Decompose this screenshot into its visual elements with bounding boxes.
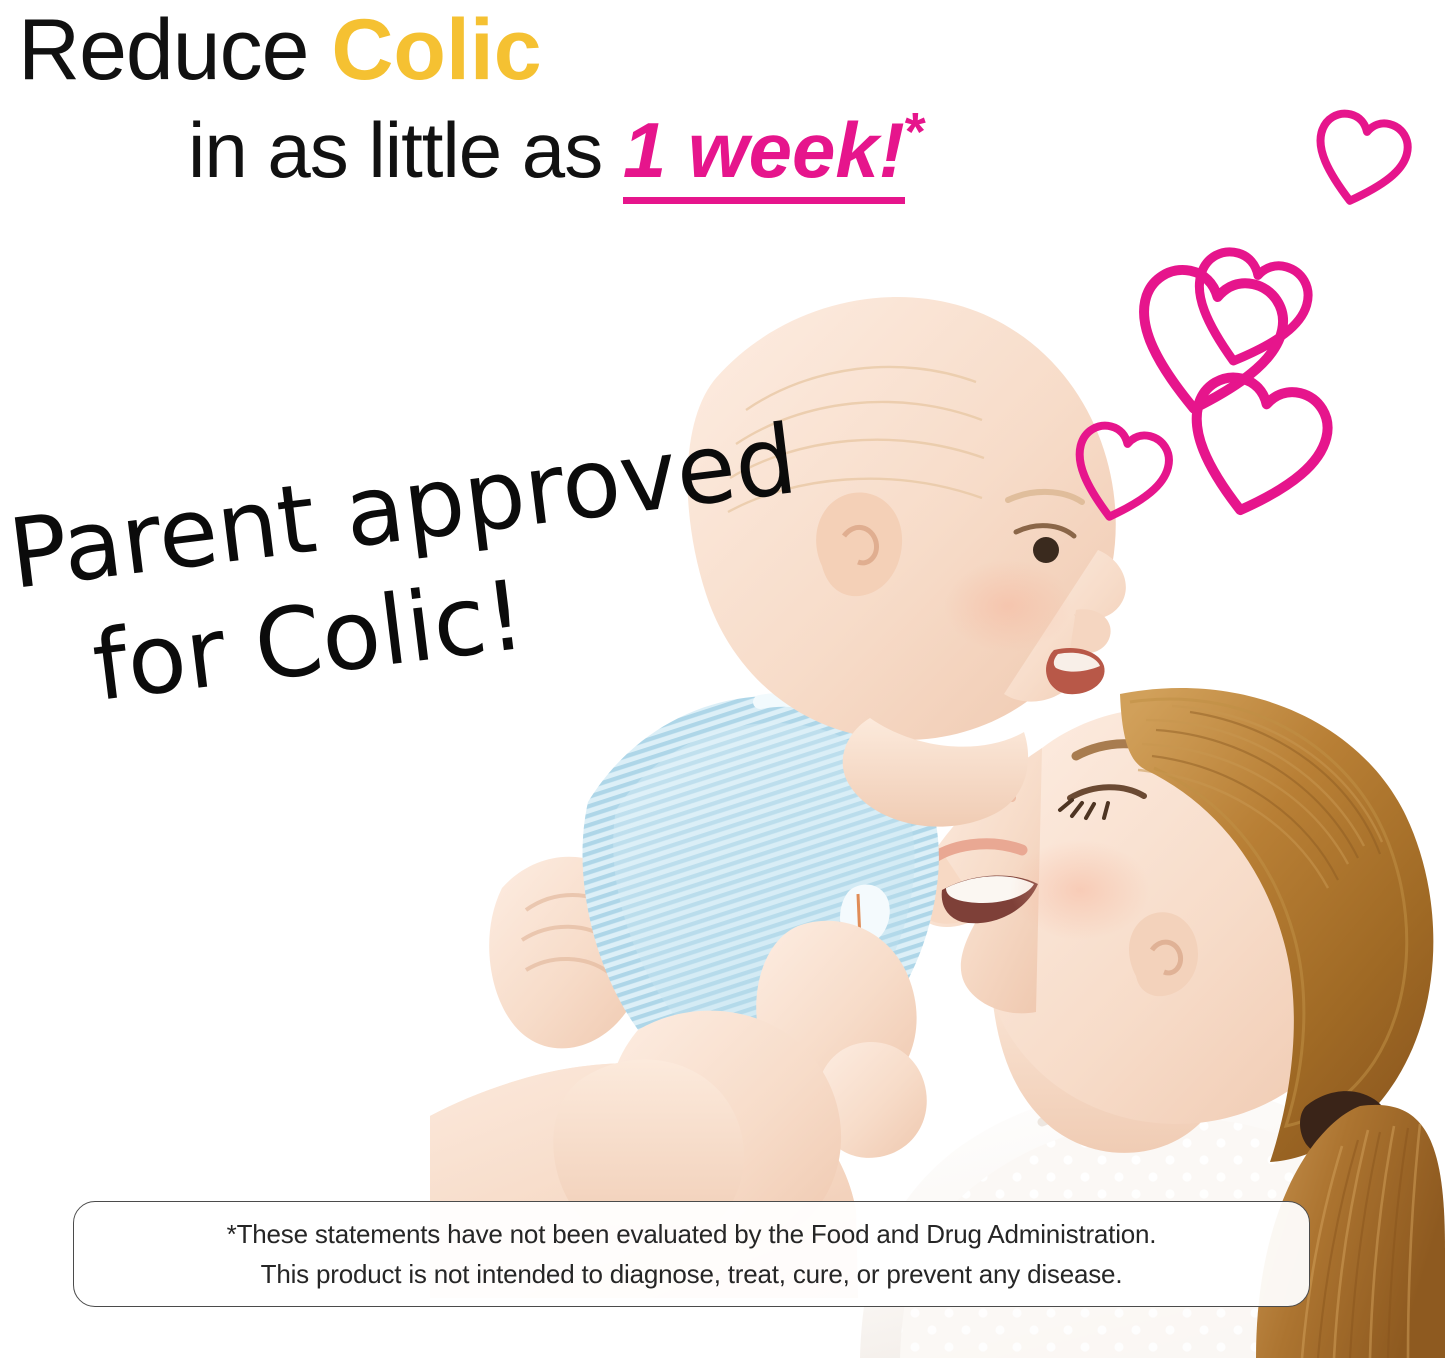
headline-line1-prefix: Reduce: [18, 2, 331, 98]
headline-highlight-colic: Colic: [331, 2, 541, 98]
headline-line-1: Reduce Colic: [18, 4, 542, 96]
footnote-asterisk-marker: *: [905, 102, 925, 162]
advertisement-canvas: Reduce Colic in as little as 1 week!* Pa…: [0, 0, 1445, 1358]
disclaimer-line-2: This product is not intended to diagnose…: [261, 1254, 1123, 1294]
headline-line-2: in as little as 1 week!*: [188, 108, 925, 192]
handwritten-line-2: for Colic!: [92, 588, 652, 738]
fda-disclaimer-box: *These statements have not been evaluate…: [73, 1201, 1310, 1307]
disclaimer-line-1: *These statements have not been evaluate…: [227, 1214, 1157, 1254]
headline-emphasis-one-week: 1 week!: [623, 106, 905, 204]
heart-top-right-icon: [1300, 101, 1420, 218]
headline-line2-prefix: in as little as: [188, 106, 623, 194]
